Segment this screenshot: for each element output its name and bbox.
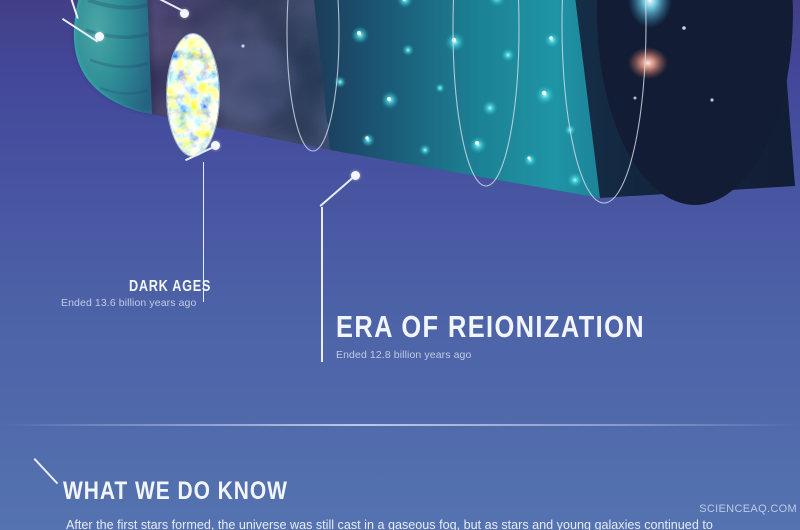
inflation-tip — [74, 0, 156, 114]
section-divider — [0, 424, 800, 426]
era-of-reionization-subtitle: Ended 12.8 billion years ago — [336, 349, 471, 361]
section-accent-line — [34, 458, 59, 484]
leader-dot-inflation — [95, 32, 104, 41]
dark-ages-title: DARK AGES — [129, 278, 211, 296]
cosmic-timeline-illustration — [0, 0, 800, 300]
era-of-reionization-title: ERA OF REIONIZATION — [336, 309, 645, 345]
dark-ages-subtitle: Ended 13.6 billion years ago — [61, 297, 196, 309]
what-we-do-know-body: After the first stars formed, the univer… — [66, 516, 786, 530]
what-we-do-know-heading: WHAT WE DO KNOW — [63, 477, 288, 506]
site-watermark: SCIENCEAQ.COM — [699, 503, 797, 515]
infographic-canvas: DARK AGES Ended 13.6 billion years ago E… — [0, 0, 800, 530]
leader-dot-cmb — [180, 9, 189, 18]
cosmic-cone-svg — [0, 0, 800, 300]
